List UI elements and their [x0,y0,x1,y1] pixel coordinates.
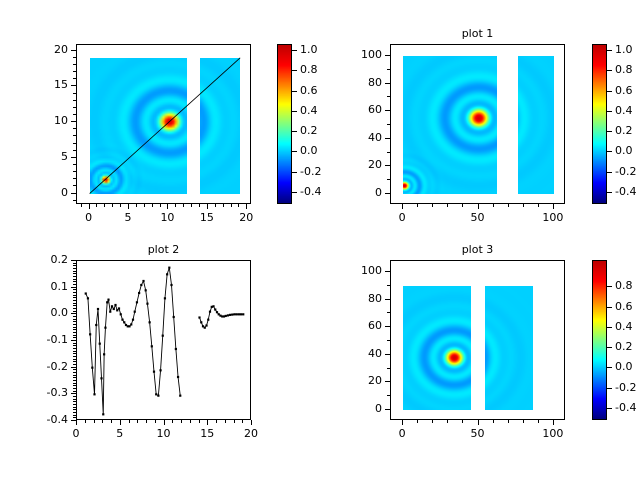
panel-bottom-right-y-tick [385,271,390,272]
panel-bottom-right-y-minor-tick [387,368,390,369]
panel-bottom-right-x-minor-tick [417,420,418,423]
panel-bottom-right: plot 3050100020406080100-0.4-0.20.00.20.… [0,0,640,480]
panel-bottom-right-x-minor-tick [523,420,524,423]
panel-bottom-right-x-minor-tick [538,420,539,423]
panel-bottom-right-colorbar-tick [607,286,612,287]
panel-bottom-right-x-tick [553,420,554,425]
panel-bottom-right-y-tick [385,326,390,327]
panel-bottom-right-y-tick [385,354,390,355]
panel-bottom-right-patch-left [403,286,471,410]
panel-bottom-right-plot-frame [390,260,565,420]
panel-bottom-right-x-minor-tick [447,420,448,423]
panel-bottom-right-y-minor-tick [387,312,390,313]
panel-bottom-right-colorbar-tick-label: -0.2 [615,382,636,394]
figure-canvas: 0510152005101520-0.4-0.20.00.20.40.60.81… [0,0,640,480]
panel-bottom-right-y-minor-tick [387,285,390,286]
panel-bottom-right-y-minor-tick [387,395,390,396]
panel-bottom-right-x-tick [402,420,403,425]
panel-bottom-right-y-tick-label: 20 [350,375,382,387]
panel-bottom-right-image-area [391,261,564,419]
panel-bottom-right-colorbar-tick-label: 0.4 [615,321,633,333]
panel-bottom-right-colorbar-tick [607,347,612,348]
panel-bottom-right-colorbar-tick-label: 0.6 [615,301,633,313]
panel-bottom-right-colorbar-tick [607,408,612,409]
panel-bottom-right-colorbar-tick-label: 0.8 [615,280,633,292]
panel-bottom-right-colorbar-tick [607,388,612,389]
panel-bottom-right-colorbar-tick-label: -0.4 [615,402,636,414]
panel-bottom-right-y-tick-label: 40 [350,348,382,360]
panel-bottom-right-colorbar-tick [607,307,612,308]
panel-bottom-right-colorbar-tick-label: 0.0 [615,361,633,373]
panel-bottom-right-y-tick-label: 0 [350,403,382,415]
panel-bottom-right-colorbar-tick [607,327,612,328]
panel-bottom-right-title: plot 3 [390,244,565,256]
panel-bottom-right-y-tick-label: 80 [350,293,382,305]
panel-bottom-right-x-tick-label: 50 [471,428,485,440]
panel-bottom-right-x-minor-tick [508,420,509,423]
panel-bottom-right-colorbar [592,260,607,420]
panel-bottom-right-y-tick-label: 100 [350,265,382,277]
panel-bottom-right-y-tick-label: 60 [350,320,382,332]
panel-bottom-right-y-minor-tick [387,340,390,341]
panel-bottom-right-colorbar-tick-label: 0.2 [615,341,633,353]
panel-bottom-right-y-tick [385,409,390,410]
panel-bottom-right-x-minor-tick [493,420,494,423]
panel-bottom-right-colorbar-tick [607,367,612,368]
panel-bottom-right-x-minor-tick [462,420,463,423]
panel-bottom-right-x-tick-label: 0 [399,428,406,440]
panel-bottom-right-patch-right [485,286,533,410]
panel-bottom-right-y-tick [385,381,390,382]
panel-bottom-right-y-tick [385,299,390,300]
panel-bottom-right-x-tick-label: 100 [542,428,563,440]
panel-bottom-right-x-minor-tick [432,420,433,423]
panel-bottom-right-x-tick [478,420,479,425]
